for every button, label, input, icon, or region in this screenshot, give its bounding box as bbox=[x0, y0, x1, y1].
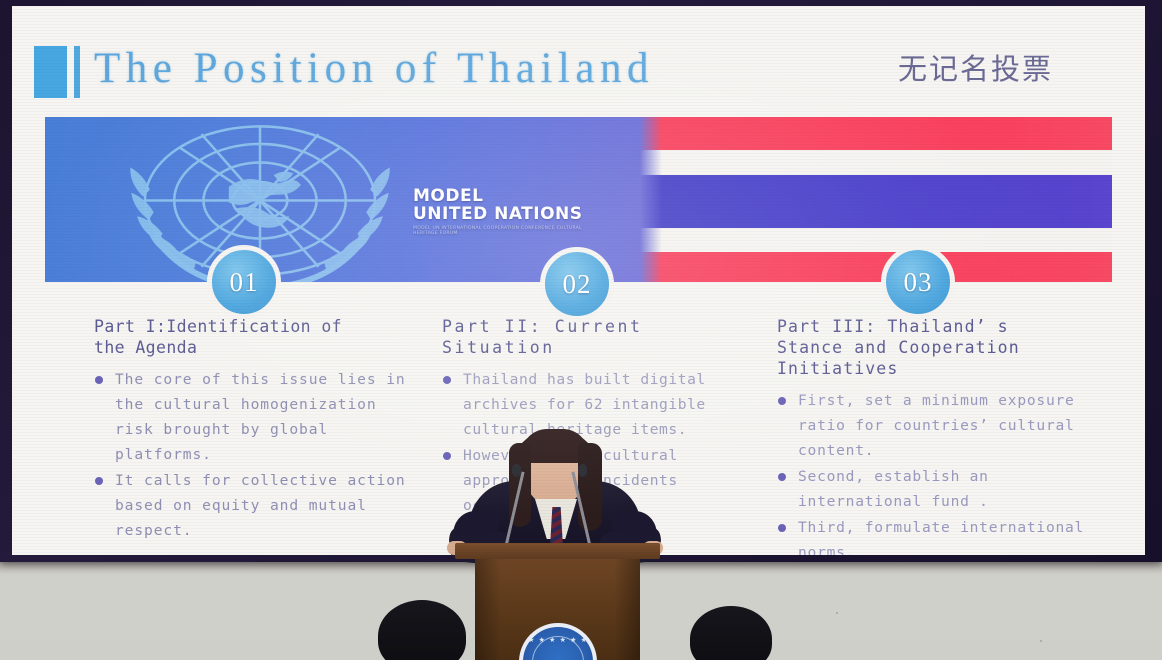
step-badge-03: 03 bbox=[881, 245, 955, 319]
title-accent-mark bbox=[34, 46, 80, 98]
podium-desktop bbox=[455, 543, 660, 559]
wall-mark bbox=[1040, 640, 1042, 642]
flag-stripe-blue bbox=[640, 175, 1112, 228]
accent-bar-icon bbox=[74, 46, 80, 98]
brand-subtext: MODEL UN INTERNATIONAL COOPERATION CONFE… bbox=[413, 226, 588, 237]
bullet-text: The core of this issue lies in the cultu… bbox=[115, 371, 415, 463]
list-item: First, set a minimum exposure ratio for … bbox=[777, 388, 1117, 463]
podium-shade-right bbox=[614, 559, 640, 660]
brand-lockup: MODEL UNITED NATIONS MODEL UN INTERNATIO… bbox=[413, 187, 588, 237]
step-badge-01: 01 bbox=[207, 245, 281, 319]
bullet-dot-icon bbox=[95, 477, 103, 485]
chinese-annotation: 无记名投票 bbox=[898, 46, 1053, 88]
speaker bbox=[447, 425, 662, 560]
flag-stripe-red-bottom bbox=[640, 252, 1112, 282]
column-1-heading: Part I:Identification of the Agenda bbox=[94, 316, 424, 358]
bullet-text: It calls for collective action based on … bbox=[115, 472, 415, 539]
bullet-text: Second, establish an international fund … bbox=[798, 468, 998, 510]
flag-stripe-white-top bbox=[640, 150, 1112, 175]
column-3-bullets: First, set a minimum exposure ratio for … bbox=[777, 388, 1117, 555]
bullet-dot-icon bbox=[778, 397, 786, 405]
thailand-flag bbox=[640, 117, 1112, 282]
bullet-text: First, set a minimum exposure ratio for … bbox=[798, 392, 1084, 459]
brand-line-model: MODEL bbox=[413, 187, 588, 205]
bullet-dot-icon bbox=[778, 473, 786, 481]
flag-stripe-white-bottom bbox=[640, 228, 1112, 252]
column-part-1: Part I:Identification of the Agenda The … bbox=[94, 316, 424, 544]
column-part-3: Part III: Thailand’ s Stance and Coopera… bbox=[777, 316, 1117, 555]
wall-mark bbox=[836, 612, 838, 614]
bullet-dot-icon bbox=[443, 376, 451, 384]
list-item: The core of this issue lies in the cultu… bbox=[94, 367, 424, 467]
column-3-heading: Part III: Thailand’ s Stance and Coopera… bbox=[777, 316, 1117, 379]
microphone-head-right bbox=[578, 464, 587, 477]
podium: ★ ★ ★ ★ ★ ★ bbox=[455, 543, 660, 660]
brand-line-united-nations: UNITED NATIONS bbox=[413, 205, 588, 223]
bullet-dot-icon bbox=[95, 376, 103, 384]
microphone-head-left bbox=[512, 464, 521, 477]
screenshot-root: The Position of Thailand 无记名投票 bbox=[0, 0, 1162, 660]
column-1-bullets: The core of this issue lies in the cultu… bbox=[94, 367, 424, 543]
bullet-dot-icon bbox=[778, 524, 786, 532]
column-2-heading: Part II: Current Situation bbox=[442, 316, 742, 358]
emblem-glyph-text: ★ ★ ★ ★ ★ ★ bbox=[523, 636, 593, 644]
list-item: Second, establish an international fund … bbox=[777, 464, 1117, 514]
list-item: It calls for collective action based on … bbox=[94, 468, 424, 543]
bullet-text: Third, formulate international norms. bbox=[798, 519, 1094, 555]
slide-title: The Position of Thailand bbox=[94, 44, 654, 93]
flag-stripe-red-top bbox=[640, 117, 1112, 150]
accent-square-icon bbox=[34, 46, 67, 98]
step-badge-02: 02 bbox=[540, 247, 614, 321]
podium-shade-left bbox=[475, 559, 501, 660]
flag-blend-edge bbox=[640, 117, 662, 282]
list-item: Third, formulate international norms. bbox=[777, 515, 1117, 555]
